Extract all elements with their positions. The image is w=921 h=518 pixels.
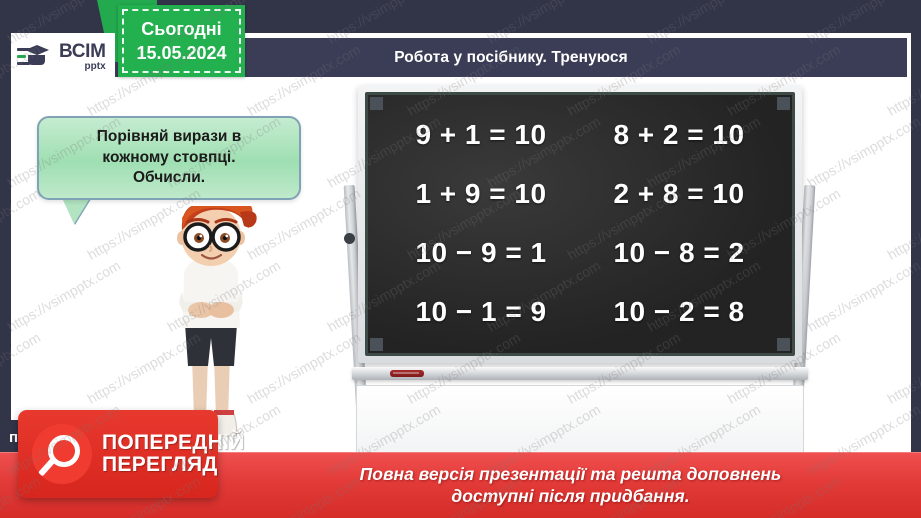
equation-cell: 10 − 2 = 8	[580, 296, 778, 328]
equation-cell: 1 + 9 = 10	[382, 178, 580, 210]
slide-canvas: Робота у посібнику. Тренуюся ВСІМ pptx С…	[0, 0, 921, 518]
page-title: Робота у посібнику. Тренуюся	[394, 49, 628, 67]
easel-knob	[344, 233, 355, 244]
graduation-cap-icon	[17, 43, 43, 71]
bubble-line-3: Обчисли.	[97, 168, 242, 188]
bubble-line-1: Порівняй вирази в	[97, 127, 242, 147]
equation-cell: 10 − 9 = 1	[382, 237, 580, 269]
equation-cell: 10 − 8 = 2	[580, 237, 778, 269]
equation-cell: 10 − 1 = 9	[382, 296, 580, 328]
board-corner-bottom-right	[777, 338, 790, 351]
blackboard-frame: 9 + 1 = 10 8 + 2 = 10 1 + 9 = 10 2 + 8 =…	[358, 85, 802, 363]
bubble-line-2: кожному стовпці.	[97, 148, 242, 168]
equation-cell: 8 + 2 = 10	[580, 119, 778, 151]
easel-lower-panel	[356, 385, 804, 457]
eraser-icon	[390, 370, 424, 377]
magnifier-icon	[32, 424, 92, 484]
preview-button-line-2: ПЕРЕГЛЯД	[102, 454, 245, 476]
speech-bubble: Порівняй вирази в кожному стовпці. Обчис…	[37, 116, 301, 200]
date-badge: Сьогодні 15.05.2024	[118, 5, 245, 77]
speech-bubble-tail	[62, 198, 90, 224]
board-tray	[352, 367, 808, 380]
preview-button-line-1: ПОПЕРЕДНІЙ	[102, 432, 245, 454]
logo-sub-text: pptx	[59, 62, 106, 72]
board-corner-bottom-left	[370, 338, 383, 351]
equation-grid: 9 + 1 = 10 8 + 2 = 10 1 + 9 = 10 2 + 8 =…	[368, 95, 792, 353]
logo-main-text: ВСІМ	[59, 42, 106, 61]
rail-glyph-text: п	[9, 430, 18, 445]
board-corner-top-right	[777, 97, 790, 110]
equation-cell: 9 + 1 = 10	[382, 119, 580, 151]
brand-logo[interactable]: ВСІМ pptx	[11, 33, 115, 81]
banner-line-1: Повна версія презентації та решта доповн…	[360, 463, 782, 485]
board-corner-top-left	[370, 97, 383, 110]
date-badge-value: 15.05.2024	[136, 41, 226, 65]
date-badge-label: Сьогодні	[141, 17, 221, 41]
banner-line-2: доступні після придбання.	[360, 485, 782, 507]
preview-button[interactable]: ПОПЕРЕДНІЙ ПЕРЕГЛЯД	[18, 410, 218, 498]
blackboard-surface: 9 + 1 = 10 8 + 2 = 10 1 + 9 = 10 2 + 8 =…	[365, 92, 795, 356]
equation-cell: 2 + 8 = 10	[580, 178, 778, 210]
